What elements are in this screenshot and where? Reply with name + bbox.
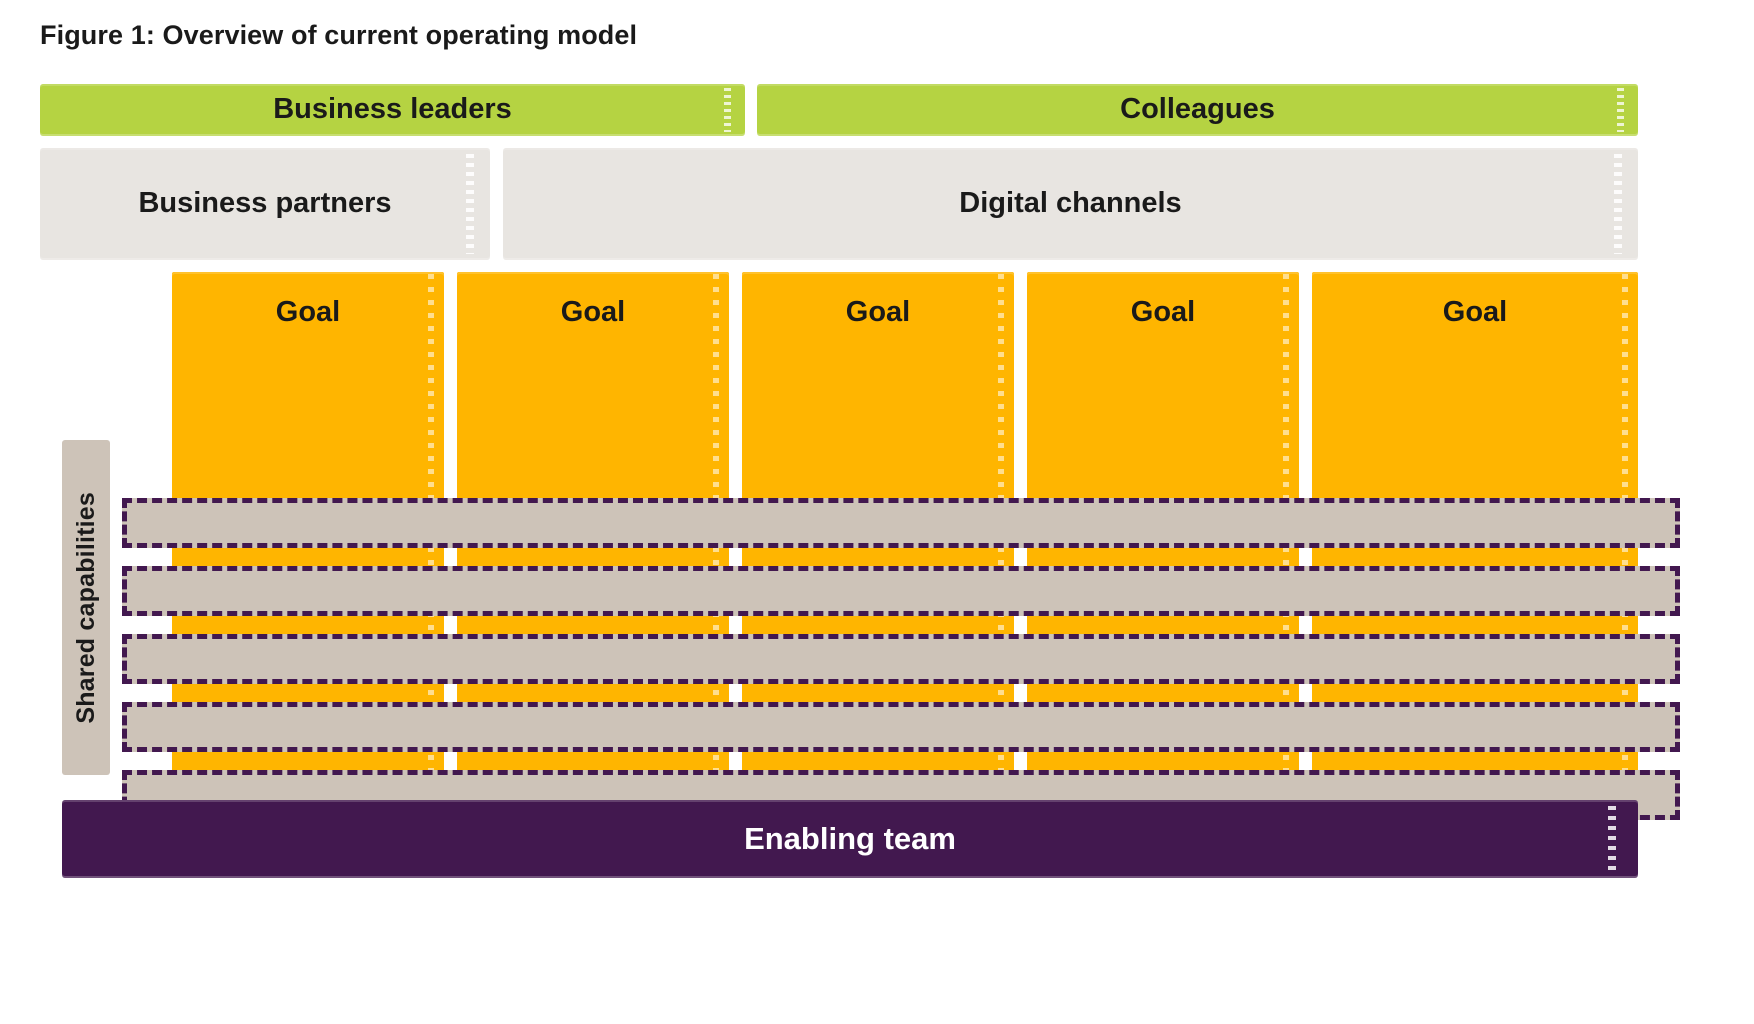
goal-label-5: Goal <box>1312 296 1638 329</box>
goal-label-4: Goal <box>1027 296 1299 329</box>
channel-band-digital-channels[interactable]: Digital channels <box>503 148 1638 260</box>
enabling-team-band[interactable]: Enabling team <box>62 800 1638 878</box>
torn-edge-icon <box>1614 154 1622 254</box>
torn-edge-icon <box>1608 806 1616 872</box>
shared-capability-bar-3[interactable] <box>122 634 1680 684</box>
figure-title: Figure 1: Overview of current operating … <box>40 20 637 51</box>
channel-label-digital-channels: Digital channels <box>959 188 1181 220</box>
torn-edge-icon <box>466 154 474 254</box>
goal-label-1: Goal <box>172 296 444 329</box>
channel-label-business-partners: Business partners <box>138 188 391 220</box>
goal-label-3: Goal <box>742 296 1014 329</box>
shared-capability-bar-4[interactable] <box>122 702 1680 752</box>
stakeholder-band-business-leaders[interactable]: Business leaders <box>40 84 745 136</box>
goal-label-2: Goal <box>457 296 729 329</box>
torn-edge-icon <box>724 88 731 132</box>
shared-capability-bar-1[interactable] <box>122 498 1680 548</box>
stakeholder-label-colleagues: Colleagues <box>1120 94 1275 126</box>
enabling-team-label: Enabling team <box>744 822 956 856</box>
shared-capabilities-axis-text: Shared capabilities <box>72 492 101 724</box>
stakeholder-label-business-leaders: Business leaders <box>273 94 512 126</box>
channel-band-business-partners[interactable]: Business partners <box>40 148 490 260</box>
torn-edge-icon <box>1617 88 1624 132</box>
figure-canvas: Figure 1: Overview of current operating … <box>0 0 1754 1024</box>
shared-capabilities-axis-label: Shared capabilities <box>62 440 110 775</box>
stakeholder-band-colleagues[interactable]: Colleagues <box>757 84 1638 136</box>
shared-capability-bar-2[interactable] <box>122 566 1680 616</box>
